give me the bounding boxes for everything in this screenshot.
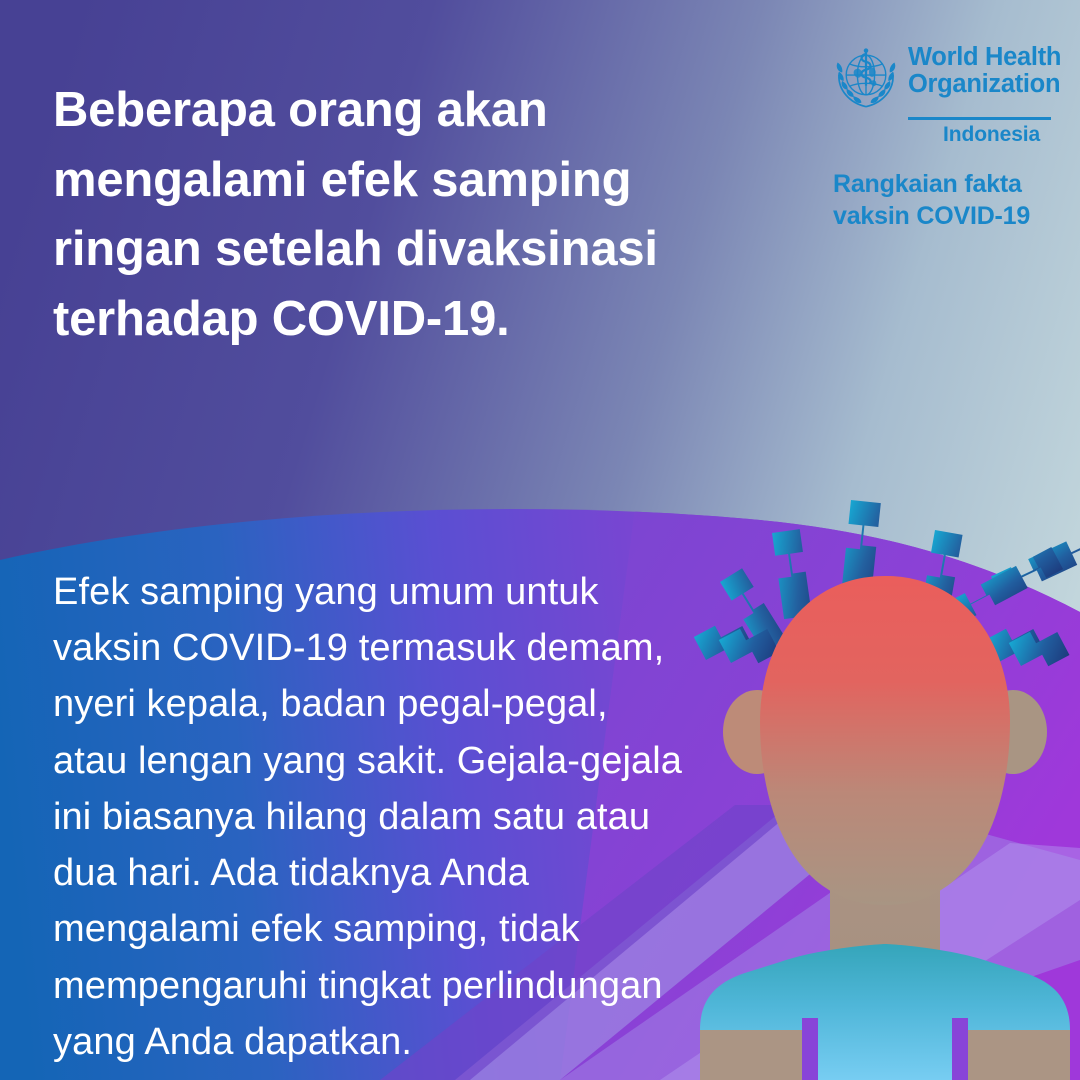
who-logo-block: World Health Organization Indonesia: [833, 44, 1053, 147]
person-head: [760, 576, 1010, 905]
person-arm-left: [700, 1030, 802, 1080]
page-title: Beberapa orang akan mengalami efek sampi…: [53, 76, 753, 354]
sleeve-divider-left: [802, 1018, 818, 1080]
body-paragraph: Efek samping yang umum untuk vaksin COVI…: [53, 564, 713, 1070]
who-divider: [908, 117, 1051, 120]
who-name-line1: World Health: [908, 44, 1061, 71]
who-emblem-icon: [833, 46, 899, 112]
who-name-line2: Organization: [908, 71, 1061, 98]
who-country-label: Indonesia: [943, 123, 1053, 147]
sleeve-divider-right: [952, 1018, 968, 1080]
who-wordmark: World Health Organization: [908, 44, 1061, 99]
person-arm-right: [968, 1030, 1070, 1080]
series-label: Rangkaian fakta vaksin COVID-19: [833, 168, 1030, 232]
who-fact-card: Beberapa orang akan mengalami efek sampi…: [0, 0, 1080, 1080]
